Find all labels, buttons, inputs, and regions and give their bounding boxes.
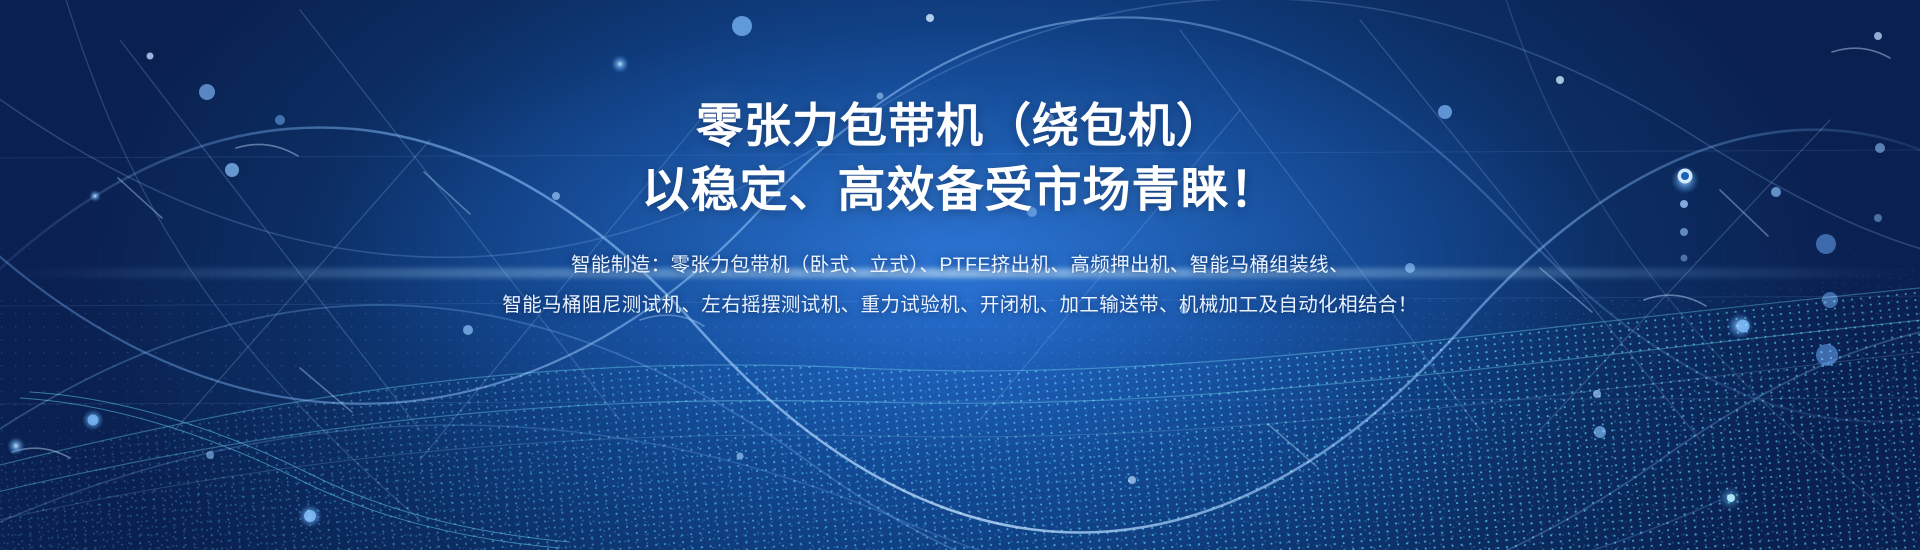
banner-content: 零张力包带机（绕包机） 以稳定、高效备受市场青睐！ 智能制造：零张力包带机（卧式… — [0, 0, 1920, 550]
hero-banner: 零张力包带机（绕包机） 以稳定、高效备受市场青睐！ 智能制造：零张力包带机（卧式… — [0, 0, 1920, 550]
headline-line-2: 以稳定、高效备受市场青睐！ — [641, 160, 1278, 221]
subtitle-line-1: 智能制造：零张力包带机（卧式、立式）、PTFE挤出机、高频押出机、智能马桶组装线… — [502, 246, 1417, 286]
subtitle-block: 智能制造：零张力包带机（卧式、立式）、PTFE挤出机、高频押出机、智能马桶组装线… — [502, 246, 1417, 326]
headline-line-1: 零张力包带机（绕包机） — [696, 96, 1224, 156]
subtitle-line-2: 智能马桶阻尼测试机、左右摇摆测试机、重力试验机、开闭机、加工输送带、机械加工及自… — [502, 286, 1417, 326]
